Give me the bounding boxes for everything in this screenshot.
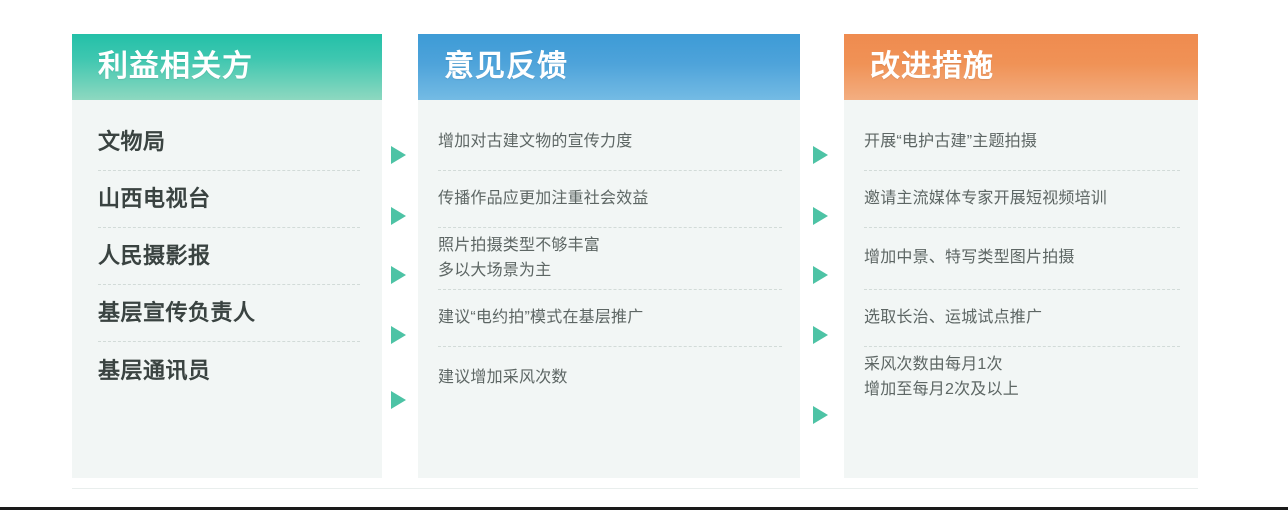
triangle-right-icon (391, 207, 406, 225)
table-row[interactable]: 建议增加采风次数 (438, 347, 782, 409)
table-row[interactable]: 选取长治、运城试点推广 (864, 290, 1180, 347)
feedback-text: 建议“电约拍”模式在基层推广 (438, 306, 643, 331)
triangle-right-icon (813, 266, 828, 284)
triangle-right-icon (813, 406, 828, 424)
triangle-right-icon (391, 326, 406, 344)
slide-bottom-rule (0, 507, 1288, 510)
column-stakeholders: 利益相关方 文物局 山西电视台 人民摄影报 基层宣传负责人 基层通讯员 (72, 34, 382, 478)
infographic-board: 利益相关方 文物局 山西电视台 人民摄影报 基层宣传负责人 基层通讯员 (0, 0, 1288, 513)
column-title-improvements: 改进措施 (870, 52, 994, 82)
table-row[interactable]: 采风次数由每月1次 增加至每月2次及以上 (864, 347, 1180, 409)
stakeholder-label: 基层宣传负责人 (98, 299, 256, 327)
three-column-table: 利益相关方 文物局 山西电视台 人民摄影报 基层宣传负责人 基层通讯员 (72, 34, 1198, 478)
stakeholder-label: 人民摄影报 (98, 242, 211, 270)
triangle-right-icon (391, 266, 406, 284)
triangle-right-icon (813, 326, 828, 344)
stakeholder-label: 基层通讯员 (98, 357, 211, 385)
improvement-text-line1: 采风次数由每月1次 (864, 356, 1003, 373)
column-title-stakeholders: 利益相关方 (98, 52, 253, 82)
improvement-text: 增加中景、特写类型图片拍摄 (864, 246, 1075, 271)
feedback-text: 增加对古建文物的宣传力度 (438, 130, 632, 155)
column-header-improvements: 改进措施 (844, 34, 1198, 100)
table-row[interactable]: 邀请主流媒体专家开展短视频培训 (864, 171, 1180, 228)
table-row[interactable]: 人民摄影报 (98, 228, 360, 285)
column-feedback: 意见反馈 增加对古建文物的宣传力度 传播作品应更加注重社会效益 照片拍摄类型不够… (418, 34, 800, 478)
table-row[interactable]: 山西电视台 (98, 171, 360, 228)
connector-gutter-right (800, 34, 844, 478)
improvement-text: 选取长治、运城试点推广 (864, 306, 1042, 331)
table-row[interactable]: 增加中景、特写类型图片拍摄 (864, 228, 1180, 290)
column-header-stakeholders: 利益相关方 (72, 34, 382, 100)
table-row[interactable]: 传播作品应更加注重社会效益 (438, 171, 782, 228)
feedback-text: 传播作品应更加注重社会效益 (438, 187, 649, 212)
improvement-text: 采风次数由每月1次 增加至每月2次及以上 (864, 353, 1019, 403)
table-row[interactable]: 基层宣传负责人 (98, 285, 360, 342)
stakeholder-label: 文物局 (98, 128, 166, 156)
column-improvements: 改进措施 开展“电护古建”主题拍摄 邀请主流媒体专家开展短视频培训 增加中景、特… (844, 34, 1198, 478)
panel-bottom-hairline (72, 488, 1198, 489)
feedback-text: 建议增加采风次数 (438, 366, 568, 391)
table-row[interactable]: 建议“电约拍”模式在基层推广 (438, 290, 782, 347)
triangle-right-icon (391, 391, 406, 409)
column-body-improvements: 开展“电护古建”主题拍摄 邀请主流媒体专家开展短视频培训 增加中景、特写类型图片… (844, 100, 1198, 478)
column-title-feedback: 意见反馈 (444, 52, 568, 82)
column-body-stakeholders: 文物局 山西电视台 人民摄影报 基层宣传负责人 基层通讯员 (72, 100, 382, 478)
improvement-text: 开展“电护古建”主题拍摄 (864, 130, 1037, 155)
stakeholder-label: 山西电视台 (98, 185, 211, 213)
feedback-text-line2: 多以大场景为主 (438, 259, 600, 284)
triangle-right-icon (813, 146, 828, 164)
improvement-text: 邀请主流媒体专家开展短视频培训 (864, 187, 1107, 212)
triangle-right-icon (813, 207, 828, 225)
feedback-text: 照片拍摄类型不够丰富 多以大场景为主 (438, 234, 600, 284)
table-row[interactable]: 照片拍摄类型不够丰富 多以大场景为主 (438, 228, 782, 290)
table-row[interactable]: 开展“电护古建”主题拍摄 (864, 114, 1180, 171)
table-row[interactable]: 文物局 (98, 114, 360, 171)
feedback-text-line1: 照片拍摄类型不够丰富 (438, 237, 600, 254)
triangle-right-icon (391, 146, 406, 164)
table-row[interactable]: 增加对古建文物的宣传力度 (438, 114, 782, 171)
table-row[interactable]: 基层通讯员 (98, 342, 360, 399)
column-body-feedback: 增加对古建文物的宣传力度 传播作品应更加注重社会效益 照片拍摄类型不够丰富 多以… (418, 100, 800, 478)
column-header-feedback: 意见反馈 (418, 34, 800, 100)
connector-gutter-left (382, 34, 418, 478)
improvement-text-line2: 增加至每月2次及以上 (864, 378, 1019, 403)
